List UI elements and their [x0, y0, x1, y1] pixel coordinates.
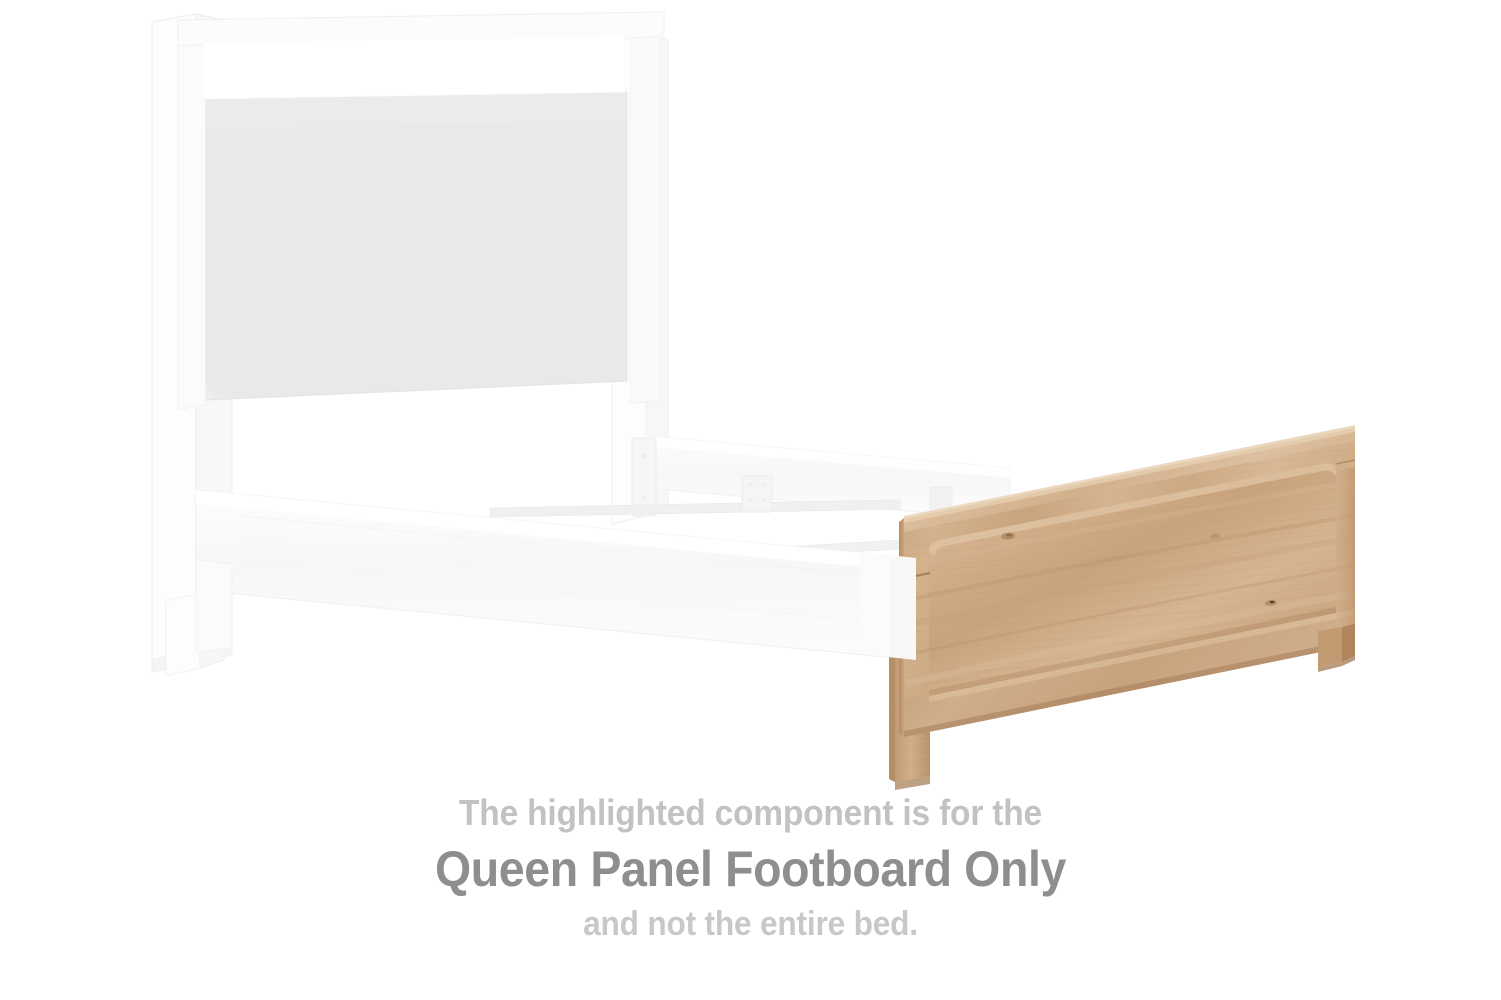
- caption-line-1: The highlighted component is for the: [53, 790, 1449, 836]
- disclaimer-caption: The highlighted component is for the Que…: [0, 790, 1501, 946]
- caption-line-2-product-name: Queen Panel Footboard Only: [53, 838, 1449, 900]
- footboard-right-post: [1336, 460, 1355, 649]
- product-disclaimer-image: The highlighted component is for the Que…: [0, 0, 1501, 1000]
- ghost-headboard-slot: [203, 36, 625, 99]
- caption-line-3: and not the entire bed.: [53, 902, 1449, 946]
- ghost-rail-bracket-head: [632, 438, 656, 516]
- ghost-headboard-panel: [206, 92, 627, 400]
- ghost-rail-overlap-front: [860, 552, 916, 660]
- ghost-near-rail-foot: [196, 560, 232, 652]
- footboard-right-leg: [1318, 624, 1355, 672]
